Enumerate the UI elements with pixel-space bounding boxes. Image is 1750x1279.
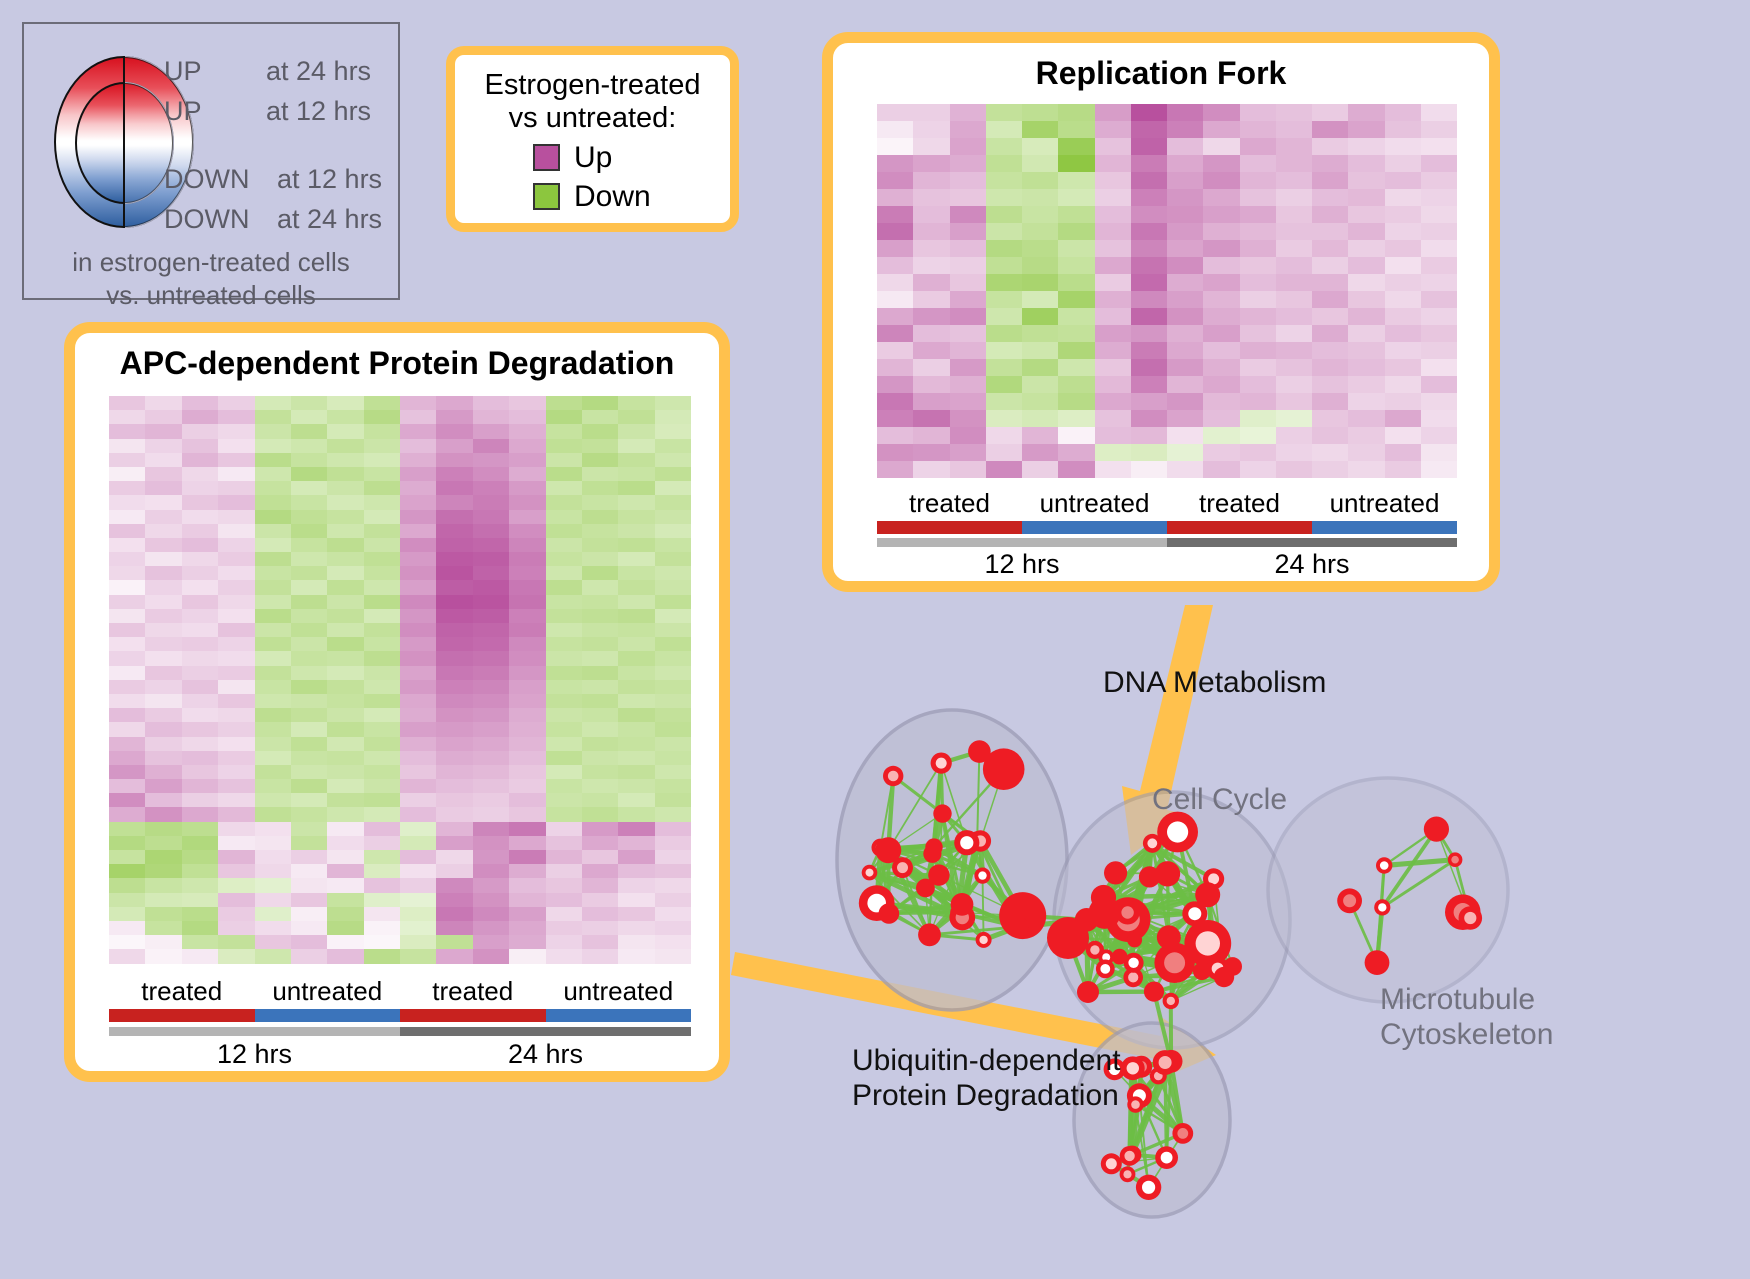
panel-replication-fork: Replication Fork treateduntreatedtreated…	[822, 32, 1500, 592]
time-label: 24 hrs	[1167, 549, 1457, 580]
network-node-core	[1196, 931, 1220, 955]
colorwheel-footer: in estrogen-treated cells vs. untreated …	[24, 246, 398, 311]
condition-bar	[546, 1009, 692, 1022]
time-label: 12 hrs	[109, 1039, 400, 1070]
time-label: 24 hrs	[400, 1039, 691, 1070]
function-network-diagram	[800, 620, 1750, 1279]
network-node	[1077, 981, 1099, 1003]
updown-legend-title: Estrogen-treated vs untreated:	[455, 69, 730, 136]
network-node	[951, 893, 974, 916]
condition-label: untreated	[255, 976, 401, 1007]
colorwheel-footer-line1: in estrogen-treated cells	[24, 246, 398, 279]
network-node	[1365, 950, 1390, 975]
time-bar	[1167, 538, 1457, 547]
network-node	[1104, 861, 1127, 884]
network-node	[918, 923, 941, 946]
network-node	[1047, 917, 1089, 959]
heatmap-apc-degradation	[109, 396, 691, 964]
figure-canvas: UP at 24 hrs UP at 12 hrs DOWN at 12 hrs…	[0, 0, 1750, 1279]
network-node-core	[1380, 861, 1389, 870]
network-node-core	[1128, 958, 1138, 968]
network-node-core	[1124, 1151, 1134, 1161]
network-node-core	[1164, 952, 1185, 973]
time-bar	[400, 1027, 691, 1036]
network-node-core	[1167, 997, 1175, 1005]
condition-bar	[400, 1009, 546, 1022]
wheel-label-down-24: DOWN	[164, 206, 249, 233]
network-node	[1112, 949, 1128, 965]
legend-item-up: Up	[533, 141, 730, 175]
cluster-label-microtubule-cytoskeleton: Microtubule Cytoskeleton	[1380, 982, 1553, 1053]
wheel-label-up-12: UP	[164, 98, 202, 125]
condition-bar	[1167, 521, 1312, 534]
condition-label: untreated	[1312, 488, 1457, 519]
network-node-core	[1161, 1152, 1173, 1164]
down-swatch-icon	[533, 183, 560, 210]
time-bar	[877, 538, 1167, 547]
network-node	[1091, 885, 1116, 910]
network-node-core	[1343, 894, 1356, 907]
legend-item-down: Down	[533, 180, 730, 214]
condition-bar	[877, 521, 1022, 534]
network-node-core	[1131, 1100, 1140, 1109]
time-bars-apc-degradation	[109, 1027, 691, 1036]
network-node-core	[1464, 912, 1476, 924]
network-node	[1008, 917, 1028, 937]
condition-label: treated	[1167, 488, 1312, 519]
network-node	[1144, 982, 1164, 1002]
updown-title-line2: vs untreated:	[455, 102, 730, 135]
condition-labels-replication-fork: treateduntreatedtreateduntreated	[877, 488, 1457, 519]
cluster-label-ubiquitin-degradation: Ubiquitin-dependent Protein Degradation	[852, 1043, 1121, 1114]
network-node-core	[1106, 1158, 1117, 1169]
network-node	[1424, 817, 1449, 842]
condition-label: treated	[109, 976, 255, 1007]
network-node	[1155, 861, 1180, 886]
up-swatch-icon	[533, 144, 560, 171]
condition-bars-replication-fork	[877, 521, 1457, 534]
down-label: Down	[574, 180, 651, 214]
updown-title-line1: Estrogen-treated	[455, 69, 730, 102]
condition-label: treated	[877, 488, 1022, 519]
network-node-core	[1188, 907, 1201, 920]
halo-microtubule	[1268, 778, 1508, 1002]
network-node-core	[1121, 906, 1133, 918]
network-node-core	[1100, 964, 1110, 974]
network-node-core	[1159, 1056, 1172, 1069]
network-node-core	[936, 758, 947, 769]
time-labels-replication-fork: 12 hrs24 hrs	[877, 549, 1457, 580]
network-node	[879, 903, 900, 924]
condition-bar	[1022, 521, 1167, 534]
wheel-time-up-24: at 24 hrs	[266, 58, 371, 85]
network-node-core	[978, 871, 986, 879]
colorwheel-footer-line2: vs. untreated cells	[24, 279, 398, 312]
network-node-core	[1451, 856, 1459, 864]
up-label: Up	[574, 141, 612, 175]
network-node	[1223, 957, 1242, 976]
wheel-time-down-24: at 24 hrs	[277, 206, 382, 233]
network-node-core	[888, 771, 899, 782]
network-node	[1157, 925, 1181, 949]
condition-label: untreated	[1022, 488, 1167, 519]
network-node-core	[866, 869, 874, 877]
condition-bar	[109, 1009, 255, 1022]
network-node-core	[1378, 903, 1386, 911]
network-node-core	[1177, 1128, 1188, 1139]
network-node-core	[1147, 838, 1157, 848]
wheel-label-down-12: DOWN	[164, 166, 249, 193]
heatmap-replication-fork	[877, 104, 1457, 478]
cluster-label-cell-cycle: Cell Cycle	[1152, 782, 1287, 817]
condition-bar	[255, 1009, 401, 1022]
network-node	[1195, 882, 1220, 907]
network-node-core	[1128, 972, 1138, 982]
time-labels-apc-degradation: 12 hrs24 hrs	[109, 1039, 691, 1070]
colorwheel-divider	[123, 56, 125, 228]
network-node	[1193, 962, 1211, 980]
network-node-core	[1142, 1181, 1155, 1194]
network-node	[928, 864, 949, 885]
condition-bars-apc-degradation	[109, 1009, 691, 1022]
condition-labels-apc-degradation: treateduntreatedtreateduntreated	[109, 976, 691, 1007]
network-node	[968, 740, 991, 763]
condition-label: treated	[400, 976, 546, 1007]
network-node-core	[1167, 821, 1188, 842]
updown-legend-card: Estrogen-treated vs untreated: Up Down	[446, 46, 739, 232]
condition-label: untreated	[546, 976, 692, 1007]
network-node-core	[897, 862, 908, 873]
network-node-core	[960, 836, 973, 849]
wheel-time-up-12: at 12 hrs	[266, 98, 371, 125]
network-node	[933, 804, 951, 822]
network-node-core	[979, 936, 987, 944]
time-bar	[109, 1027, 400, 1036]
condition-bar	[1312, 521, 1457, 534]
network-node-core	[1127, 1062, 1139, 1074]
network-node	[1127, 932, 1142, 947]
time-bars-replication-fork	[877, 538, 1457, 547]
network-node-core	[1123, 1170, 1131, 1178]
panel-title-apc-degradation: APC-dependent Protein Degradation	[75, 345, 719, 382]
colorwheel-legend-box: UP at 24 hrs UP at 12 hrs DOWN at 12 hrs…	[22, 22, 400, 300]
time-label: 12 hrs	[877, 549, 1167, 580]
wheel-time-down-12: at 12 hrs	[277, 166, 382, 193]
panel-title-replication-fork: Replication Fork	[833, 55, 1489, 92]
panel-apc-degradation: APC-dependent Protein Degradation treate…	[64, 322, 730, 1082]
network-node	[923, 845, 941, 863]
cluster-label-dna-metabolism: DNA Metabolism	[1103, 665, 1326, 700]
network-node-core	[1090, 945, 1099, 954]
wheel-label-up-24: UP	[164, 58, 202, 85]
